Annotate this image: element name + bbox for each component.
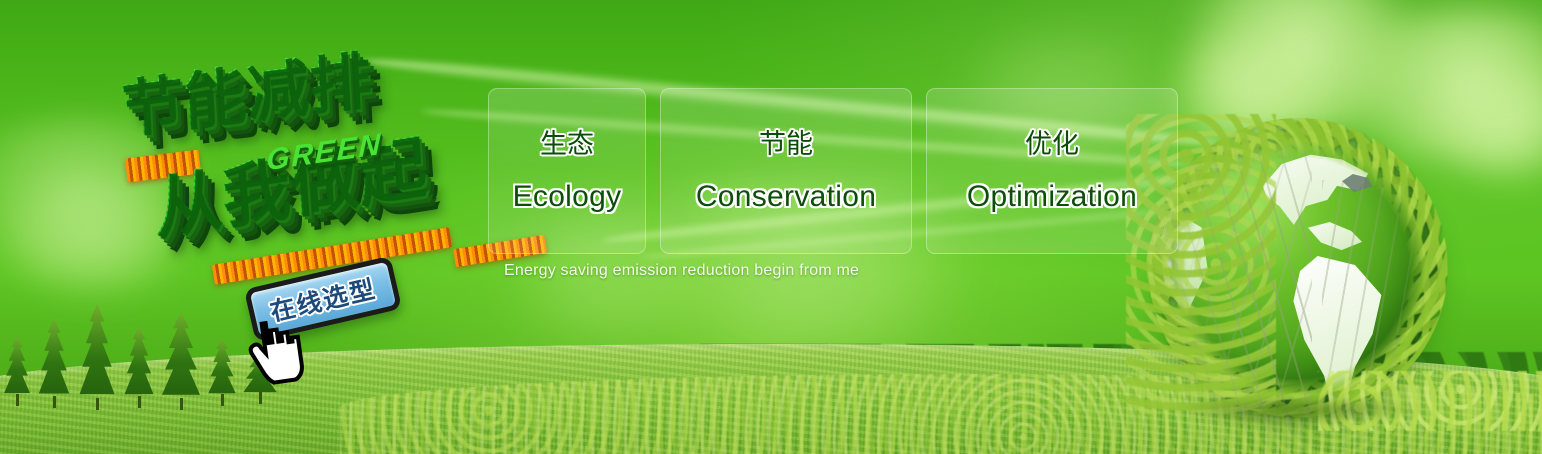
card-title-cn: 节能 [759,131,813,158]
card-title-cn: 优化 [1025,131,1079,158]
tree-shape [120,326,158,400]
cloud-shape [1150,0,1450,130]
globe-sphere [1158,128,1438,408]
globe-shadow [1174,397,1426,423]
tree-shape [74,304,120,402]
card-title-cn: 生态 [540,131,594,158]
tree-shape [204,338,240,398]
feature-card-ecology[interactable]: 生态 Ecology [488,88,646,254]
card-title-en: Conservation [696,182,876,212]
central-america-shape [1308,222,1362,254]
online-selection-cta[interactable]: 在线选型 [248,272,428,362]
card-title-en: Optimization [967,182,1137,212]
continents [1158,128,1438,408]
card-title-en: Ecology [513,182,622,212]
feature-card-optimization[interactable]: 优化 Optimization [926,88,1178,254]
tree-shape [34,318,74,400]
feature-card-conservation[interactable]: 节能 Conservation [660,88,912,254]
tagline: Energy saving emission reduction begin f… [504,262,859,280]
hand-pointer-icon [237,314,314,395]
tree-shape [156,312,206,402]
feature-cards: 生态 Ecology 节能 Conservation 优化 Optimizati… [488,88,1178,254]
headline-artwork: 节能减排 从我做起 GREEN [104,36,484,266]
green-energy-banner: 节能减排 从我做起 GREEN 生态 Ecology 节能 Conservati… [0,0,1542,454]
green-globe-icon [1148,120,1448,425]
tree-shape [0,336,34,398]
